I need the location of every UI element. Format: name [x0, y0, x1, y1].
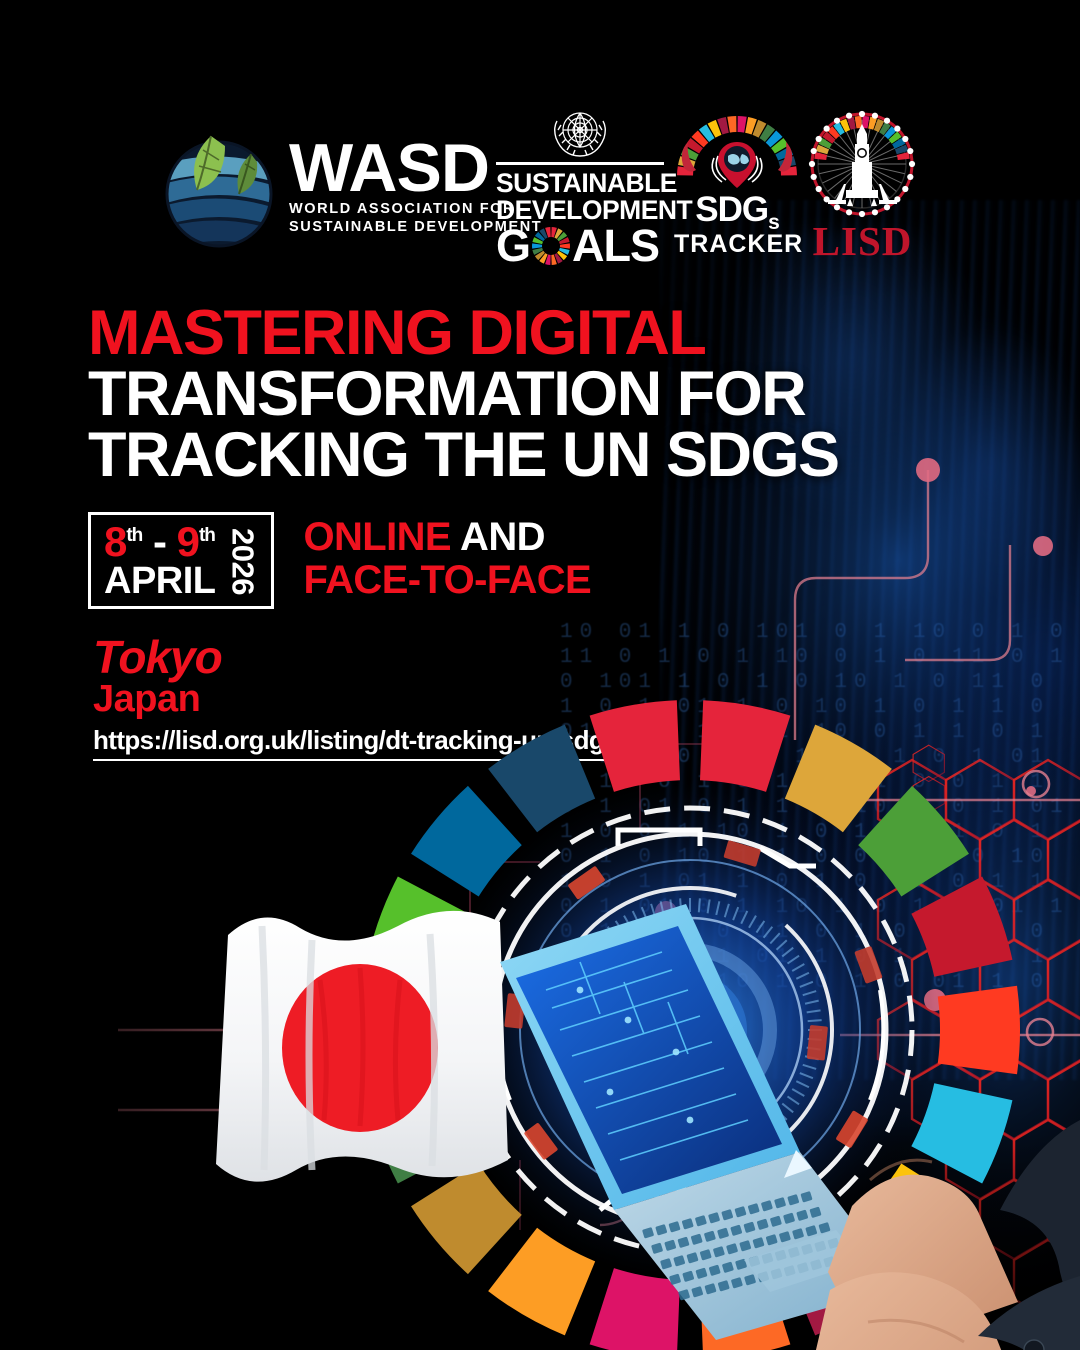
date-badge: 8th - 9th APRIL 2026 — [88, 512, 274, 609]
sdg-divider-rule — [496, 162, 664, 165]
japan-flag-icon — [216, 911, 508, 1182]
logo-sustainable-development-goals: SUSTAINABLE DEVELOPMENT G ALS — [496, 106, 664, 268]
headline-line-2: TRANSFORMATION FOR — [88, 364, 888, 425]
sdg-goals-als: ALS — [572, 223, 659, 268]
format-line-2: FACE-TO-FACE — [304, 559, 592, 602]
tracker-sdg: SDG — [695, 190, 768, 229]
event-format: ONLINE AND FACE-TO-FACE — [304, 512, 592, 602]
artwork-composition — [0, 690, 1080, 1350]
date-day-2: 9 — [177, 518, 199, 565]
format-and: AND — [451, 515, 545, 559]
sdg-line1: SUSTAINABLE — [496, 170, 664, 197]
date-year: 2026 — [228, 528, 259, 595]
globe-leaf-icon — [163, 120, 275, 252]
un-emblem-icon — [549, 106, 611, 160]
date-and-format-row: 8th - 9th APRIL 2026 ONLINE AND FACE-TO-… — [88, 512, 591, 609]
globe-pin-laurel-icon — [674, 112, 800, 190]
logo-lisd: LISD — [806, 108, 919, 262]
sdg-goals-g: G — [496, 223, 530, 268]
tracker-sdgs-text: SDGs — [674, 195, 800, 232]
page-title: MASTERING DIGITAL TRANSFORMATION FOR TRA… — [88, 303, 888, 486]
london-eye-bigben-icon — [806, 108, 919, 220]
headline-line-3: TRACKING THE UN SDGS — [88, 425, 888, 486]
tracker-word: TRACKER — [674, 232, 800, 257]
format-line-1: ONLINE AND — [304, 516, 592, 559]
headline-line-1: MASTERING DIGITAL — [88, 303, 888, 364]
location-city: Tokyo — [93, 634, 625, 680]
date-day-1: 8 — [104, 518, 126, 565]
sdg-color-wheel-icon — [530, 225, 572, 267]
logo-row: WASD WORLD ASSOCIATION FOR SUSTAINABLE D… — [0, 98, 1080, 268]
date-days: 8th - 9th — [104, 523, 216, 562]
sdg-goals-word: G ALS — [496, 223, 664, 268]
poster-root: 10 01 1 0 101 0 1 10 0 1 011 0 1 0 1 10 … — [0, 0, 1080, 1350]
logo-wasd: WASD WORLD ASSOCIATION FOR SUSTAINABLE D… — [163, 120, 542, 252]
date-day-2-suffix: th — [199, 525, 215, 546]
artwork-svg — [0, 690, 1080, 1350]
date-day-1-suffix: th — [126, 525, 142, 546]
format-online: ONLINE — [304, 515, 452, 559]
date-dash: - — [142, 518, 176, 565]
logo-sdgs-tracker: SDGs TRACKER — [674, 112, 800, 257]
date-month: APRIL — [104, 562, 216, 600]
lisd-name: LISD — [806, 221, 919, 262]
